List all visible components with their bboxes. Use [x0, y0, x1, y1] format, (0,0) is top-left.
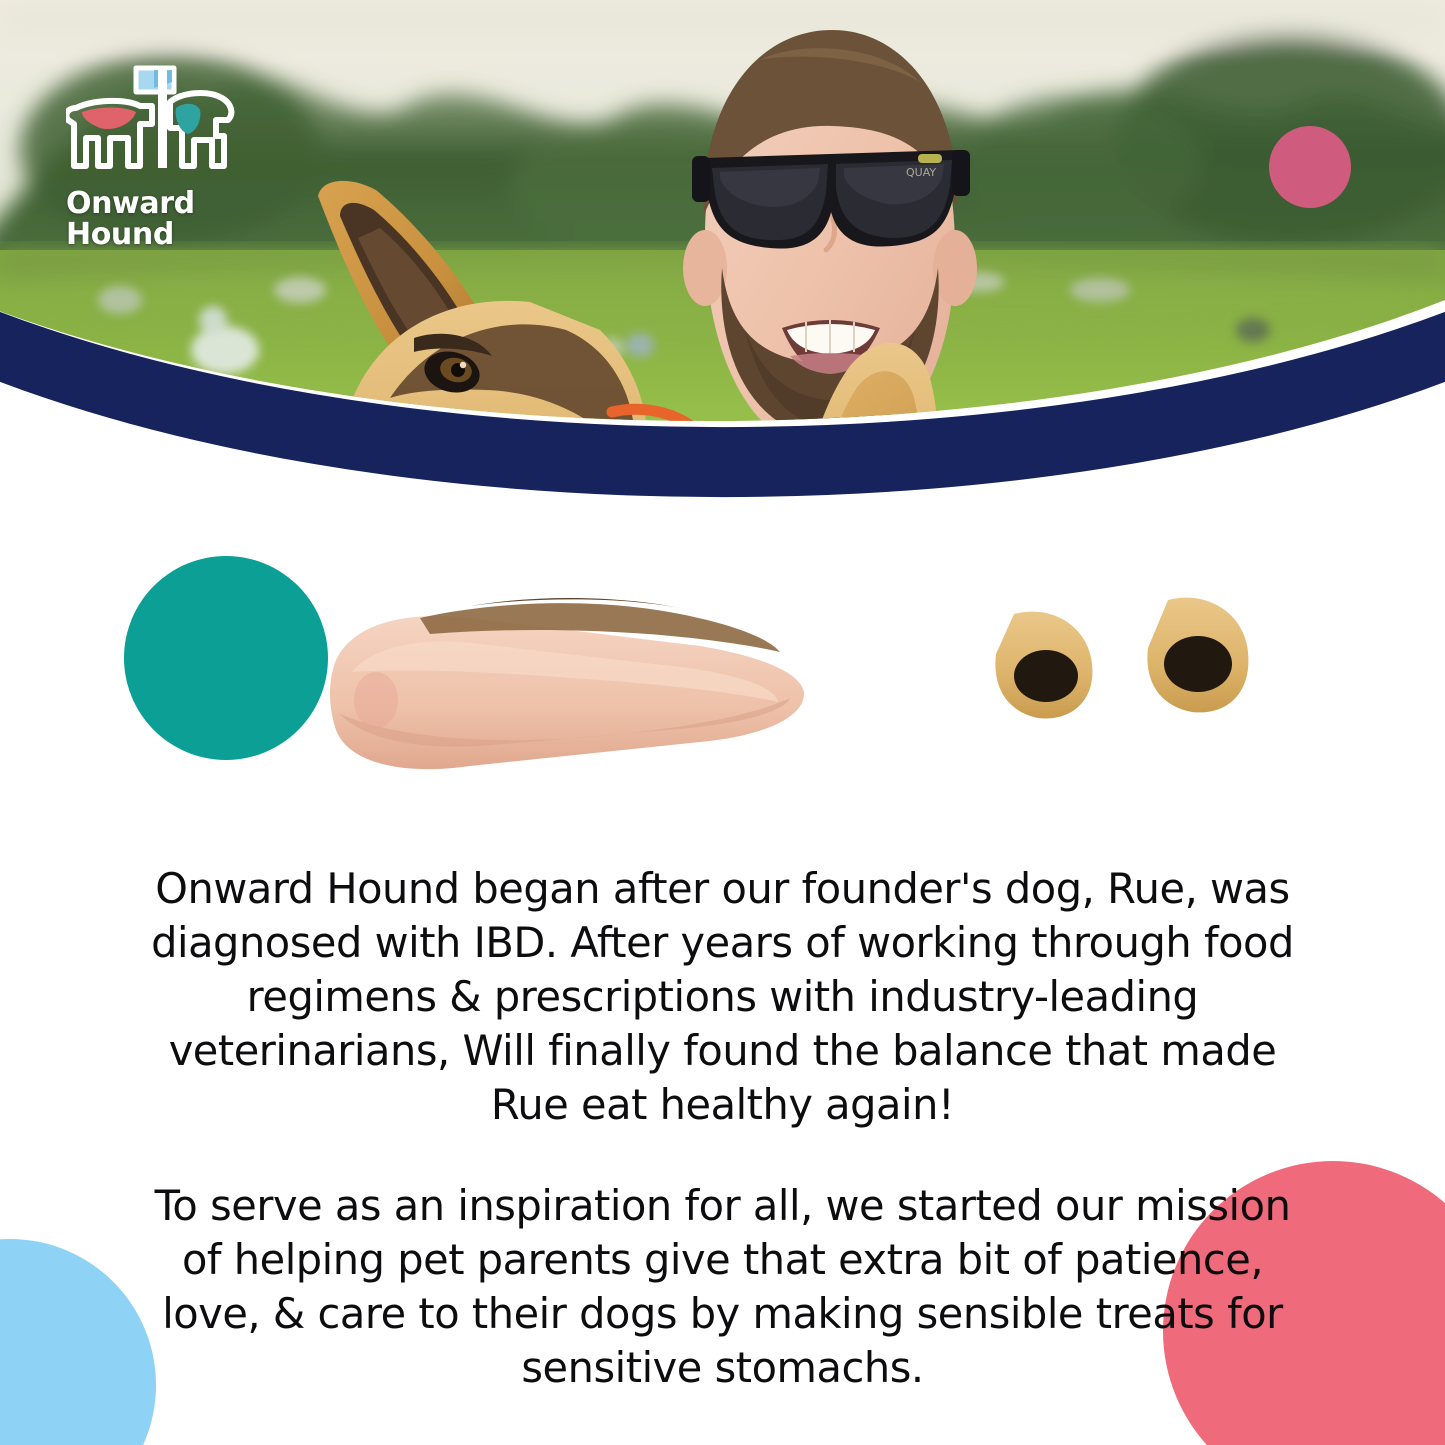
story-paragraph-1: Onward Hound began after our founder's d… — [132, 862, 1313, 1132]
logo-wordmark-line2: Hound — [66, 220, 246, 251]
orange-leash-shade — [958, 612, 998, 720]
mans-forearm — [330, 598, 804, 769]
logo-wordmark-line1: Onward — [66, 189, 246, 220]
dog-paws-over-band — [995, 598, 1248, 719]
pink-circle-decoration — [1269, 126, 1351, 208]
figure-cutouts-over-band — [330, 598, 1248, 770]
brand-story-card: QUAY — [0, 0, 1445, 1445]
onward-hound-logo[interactable]: Onward Hound — [66, 62, 246, 250]
story-copy-block: Onward Hound began after our founder's d… — [0, 862, 1445, 1394]
svg-text:QUAY: QUAY — [906, 166, 936, 179]
teal-circle-decoration — [124, 556, 328, 760]
story-paragraph-2: To serve as an inspiration for all, we s… — [132, 1179, 1313, 1395]
logo-wordmark: Onward Hound — [66, 189, 246, 250]
dog-with-flag-logo-icon — [66, 62, 238, 187]
